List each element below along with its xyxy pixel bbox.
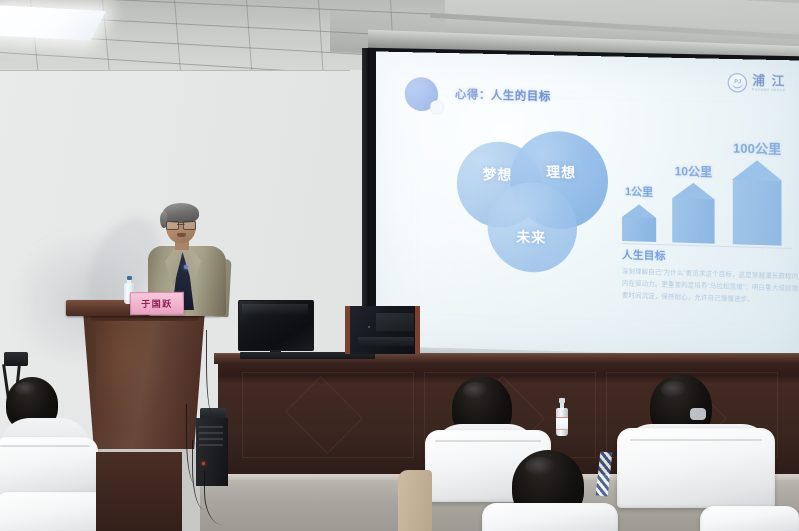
water-bottle-on-desk [556,398,568,436]
bottle-neck [560,403,564,410]
arrow-head-2 [672,182,714,199]
lecture-hall-photo: 心得：人生的目标 PJ 浦 江 PUJIANG GROUP 梦想 理想 未来 [0,0,799,531]
glasses-lens-right [183,221,196,230]
device-display [376,313,414,331]
arrow-bar-label-2: 10公里 [675,162,713,180]
ceiling-tile-divider [318,0,324,70]
circle-bullet-icon [405,77,438,112]
audience-chair[interactable] [700,506,799,531]
nameplate-text: 于国跃 [141,297,173,310]
device-slot [358,337,414,346]
glasses-lens-left [166,221,179,230]
logo-wordmark: 浦 江 [752,75,787,88]
arrow-head-1 [622,204,656,218]
podium-highlight [96,320,166,430]
ceiling-light-panel [0,5,106,41]
circular-wave-logo-icon: PJ [728,73,747,93]
ceiling-tile-divider [246,0,252,70]
audience-sleeve [398,470,432,531]
hair-sheen [525,457,555,476]
arrow-shaft-1 [622,217,656,242]
cable [206,330,217,415]
audience-hair-tie [690,408,706,420]
monitor-screen [238,300,314,351]
arrow-head-3 [732,160,783,181]
chair-fold [0,445,89,447]
bottle-label [556,417,568,430]
clip-microphone-icon [184,265,188,269]
audience-chair[interactable] [617,428,775,508]
logo-mark-text: PJ [734,79,741,85]
arrow-shaft-2 [672,198,714,243]
device-indicator [368,326,370,328]
brand-logo: PJ 浦 江 PUJIANG GROUP [728,73,787,93]
bottle-cap [559,398,565,403]
arrow-shaft-3 [733,180,782,246]
slide-body-heading: 人生目标 [622,247,799,267]
venn-label-dream: 梦想 [483,164,513,185]
arrow-bar-chart: 1公里 10公里 100公里 [622,121,794,246]
slide-body-paragraph: 深刻理解自己“为什么”要追求这个目标，这是穿越漫长旅程的内在驱动力。更重要的是培… [622,266,799,307]
audience-chair[interactable] [482,503,618,531]
chair-fold [435,440,541,442]
tripod-head [4,352,28,366]
rack-vent [199,426,223,428]
arrow-bar-3: 100公里 [733,180,782,246]
venn-label-ideal: 理想 [546,162,576,183]
projection-screen: 心得：人生的目标 PJ 浦 江 PUJIANG GROUP 梦想 理想 未来 [376,51,799,369]
venn-diagram: 梦想 理想 未来 [457,129,631,274]
chair-fold [630,439,763,441]
arrow-bar-label-3: 100公里 [733,138,781,158]
slide-body-block: 人生目标 深刻理解自己“为什么”要追求这个目标，这是穿越漫长旅程的内在驱动力。更… [622,247,799,307]
venn-label-future: 未来 [516,227,546,248]
hair-sheen [661,381,687,398]
ceiling-tile-divider [174,0,181,70]
presenter-hair [163,203,199,223]
rack-vent [199,432,223,434]
presenter-mouth [177,233,186,237]
logo-subtitle: PUJIANG GROUP [752,87,785,92]
av-playback-device[interactable] [345,306,420,354]
desk-monitor[interactable] [238,300,314,351]
hair-sheen [15,382,37,396]
audience-chair[interactable] [0,437,98,497]
glasses-icon [166,221,196,229]
bench-front-left [96,452,182,531]
arrow-bar-1: 1公里 [622,217,656,242]
podium-nameplate: 于国跃 [130,292,184,316]
arrow-bar-label-1: 1公里 [625,183,653,200]
slide-title: 心得：人生的目标 [455,86,551,104]
bottle-cap [127,276,132,280]
hair-sheen [463,382,488,399]
arrow-bar-2: 10公里 [672,198,714,243]
monitor-glare [242,304,308,316]
